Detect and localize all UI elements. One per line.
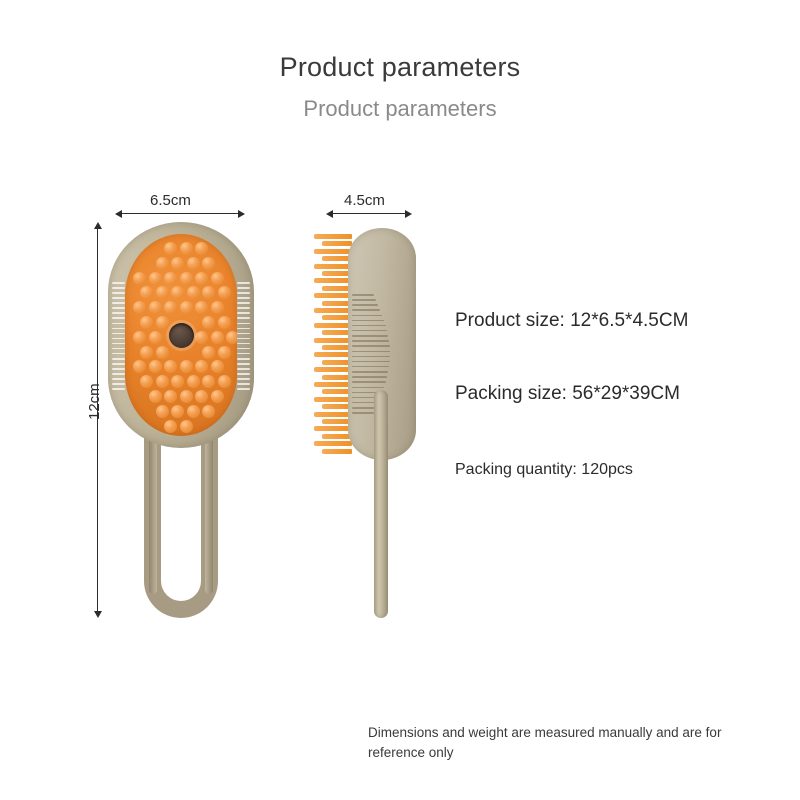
dimension-label-width-front: 6.5cm [150,192,191,209]
dimension-bar [97,227,98,613]
center-hole [169,323,194,348]
page-title: Product parameters [0,52,800,83]
dimension-arrow-height [93,222,102,618]
product-brush-head [108,222,254,448]
comb-teeth-left [112,282,125,390]
product-handle-loop [144,422,218,618]
spec-packing-size: Packing size: 56*29*39CM [455,383,680,405]
dimension-arrow-width-side [326,209,412,218]
product-side-handle [374,390,388,618]
product-front-view [108,222,254,618]
arrowhead-bottom-icon [94,611,102,618]
page-subtitle: Product parameters [0,96,800,122]
dimension-bar [331,213,407,214]
spec-packing-quantity: Packing quantity: 120pcs [455,461,633,479]
footnote-disclaimer: Dimensions and weight are measured manua… [368,723,773,762]
arrowhead-right-icon [405,210,412,218]
dimension-arrow-width-front [115,209,245,218]
product-side-view [312,228,424,618]
arrowhead-right-icon [238,210,245,218]
dimension-label-width-side: 4.5cm [344,192,385,209]
dimension-bar [120,213,240,214]
bristle-row [312,234,352,460]
comb-teeth-right [237,282,250,390]
spec-product-size: Product size: 12*6.5*4.5CM [455,310,688,332]
